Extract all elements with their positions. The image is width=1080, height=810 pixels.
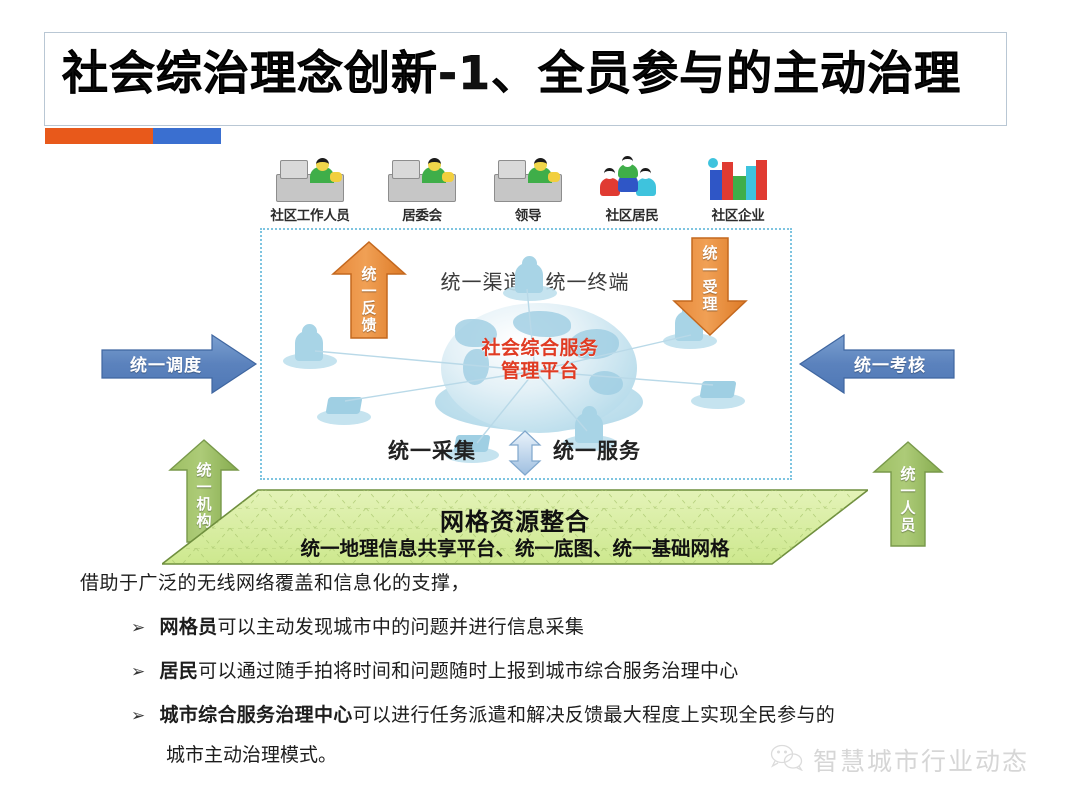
- bullet-continuation: 城市主动治理模式。: [166, 740, 337, 767]
- bullet-keyword: 居民: [160, 660, 199, 682]
- accent-bar-orange: [45, 128, 153, 144]
- arrow-label: 统一考核: [798, 351, 956, 376]
- chevron-icon: ➢: [131, 662, 146, 682]
- watermark-text: 智慧城市行业动态: [813, 742, 1029, 778]
- watermark: 智慧城市行业动态: [770, 742, 1029, 778]
- actor-label: 领导: [476, 204, 580, 224]
- arrow-unified-staff: 统一人员: [872, 440, 944, 548]
- desk-worker-icon: [258, 158, 362, 202]
- actor-leader: 领导: [476, 158, 580, 224]
- bullet-text: 可以主动发现城市中的问题并进行信息采集: [217, 616, 584, 638]
- arrow-unified-acceptance: 统一受理: [672, 235, 748, 337]
- arrow-unified-dispatch: 统一调度: [100, 333, 258, 395]
- caption-unified-service: 统一服务: [553, 435, 641, 465]
- actor-label: 社区企业: [686, 204, 790, 224]
- bullet-item: ➢网格员可以主动发现城市中的问题并进行信息采集: [131, 612, 584, 639]
- double-arrow-icon: [506, 430, 544, 476]
- actor-label: 居委会: [370, 204, 474, 224]
- actor-neighborhood-committee: 居委会: [370, 158, 474, 224]
- arrow-label: 统一调度: [100, 351, 258, 376]
- bullet-keyword: 城市综合服务治理中心: [160, 704, 353, 726]
- people-group-icon: [580, 158, 684, 202]
- arrow-unified-feedback: 统一反馈: [331, 240, 407, 340]
- actor-enterprises: 社区企业: [686, 158, 790, 224]
- platform-title-line1: 社会综合服务: [481, 337, 598, 359]
- lead-paragraph: 借助于广泛的无线网络覆盖和信息化的支撑，: [80, 568, 470, 595]
- bullet-keyword: 网格员: [160, 616, 218, 638]
- grid-resource-platform: 网格资源整合 统一地理信息共享平台、统一底图、统一基础网格: [162, 488, 868, 566]
- chevron-icon: ➢: [131, 706, 146, 726]
- chevron-icon: ➢: [131, 618, 146, 638]
- arrow-unified-assessment: 统一考核: [798, 333, 956, 395]
- platform-title: 社会综合服务 管理平台: [395, 337, 685, 383]
- page-title: 社会综治理念创新-1、全员参与的主动治理: [62, 42, 1002, 104]
- caption-unified-collection: 统一采集: [388, 435, 476, 465]
- platform-title-line2: 管理平台: [501, 360, 579, 382]
- accent-bar-blue: [153, 128, 221, 144]
- actor-label: 社区工作人员: [258, 204, 362, 224]
- grid-platform-subtitle: 统一地理信息共享平台、统一底图、统一基础网格: [162, 532, 868, 561]
- bullet-item: ➢城市综合服务治理中心可以进行任务派遣和解决反馈最大程度上实现全民参与的: [131, 700, 835, 727]
- bullet-item: ➢居民可以通过随手拍将时间和问题随时上报到城市综合服务治理中心: [131, 656, 739, 683]
- actor-row: 社区工作人员 居委会 领导: [258, 158, 798, 230]
- buildings-icon: [686, 158, 790, 202]
- desk-worker-icon: [476, 158, 580, 202]
- bullet-text: 可以通过随手拍将时间和问题随时上报到城市综合服务治理中心: [198, 660, 738, 682]
- bullet-text: 可以进行任务派遣和解决反馈最大程度上实现全民参与的: [353, 704, 836, 726]
- actor-residents: 社区居民: [580, 158, 684, 224]
- actor-label: 社区居民: [580, 204, 684, 224]
- desk-worker-icon: [370, 158, 474, 202]
- wechat-icon: [770, 744, 804, 777]
- diagram-area: 社区工作人员 居委会 领导: [0, 150, 1080, 575]
- actor-community-worker: 社区工作人员: [258, 158, 362, 224]
